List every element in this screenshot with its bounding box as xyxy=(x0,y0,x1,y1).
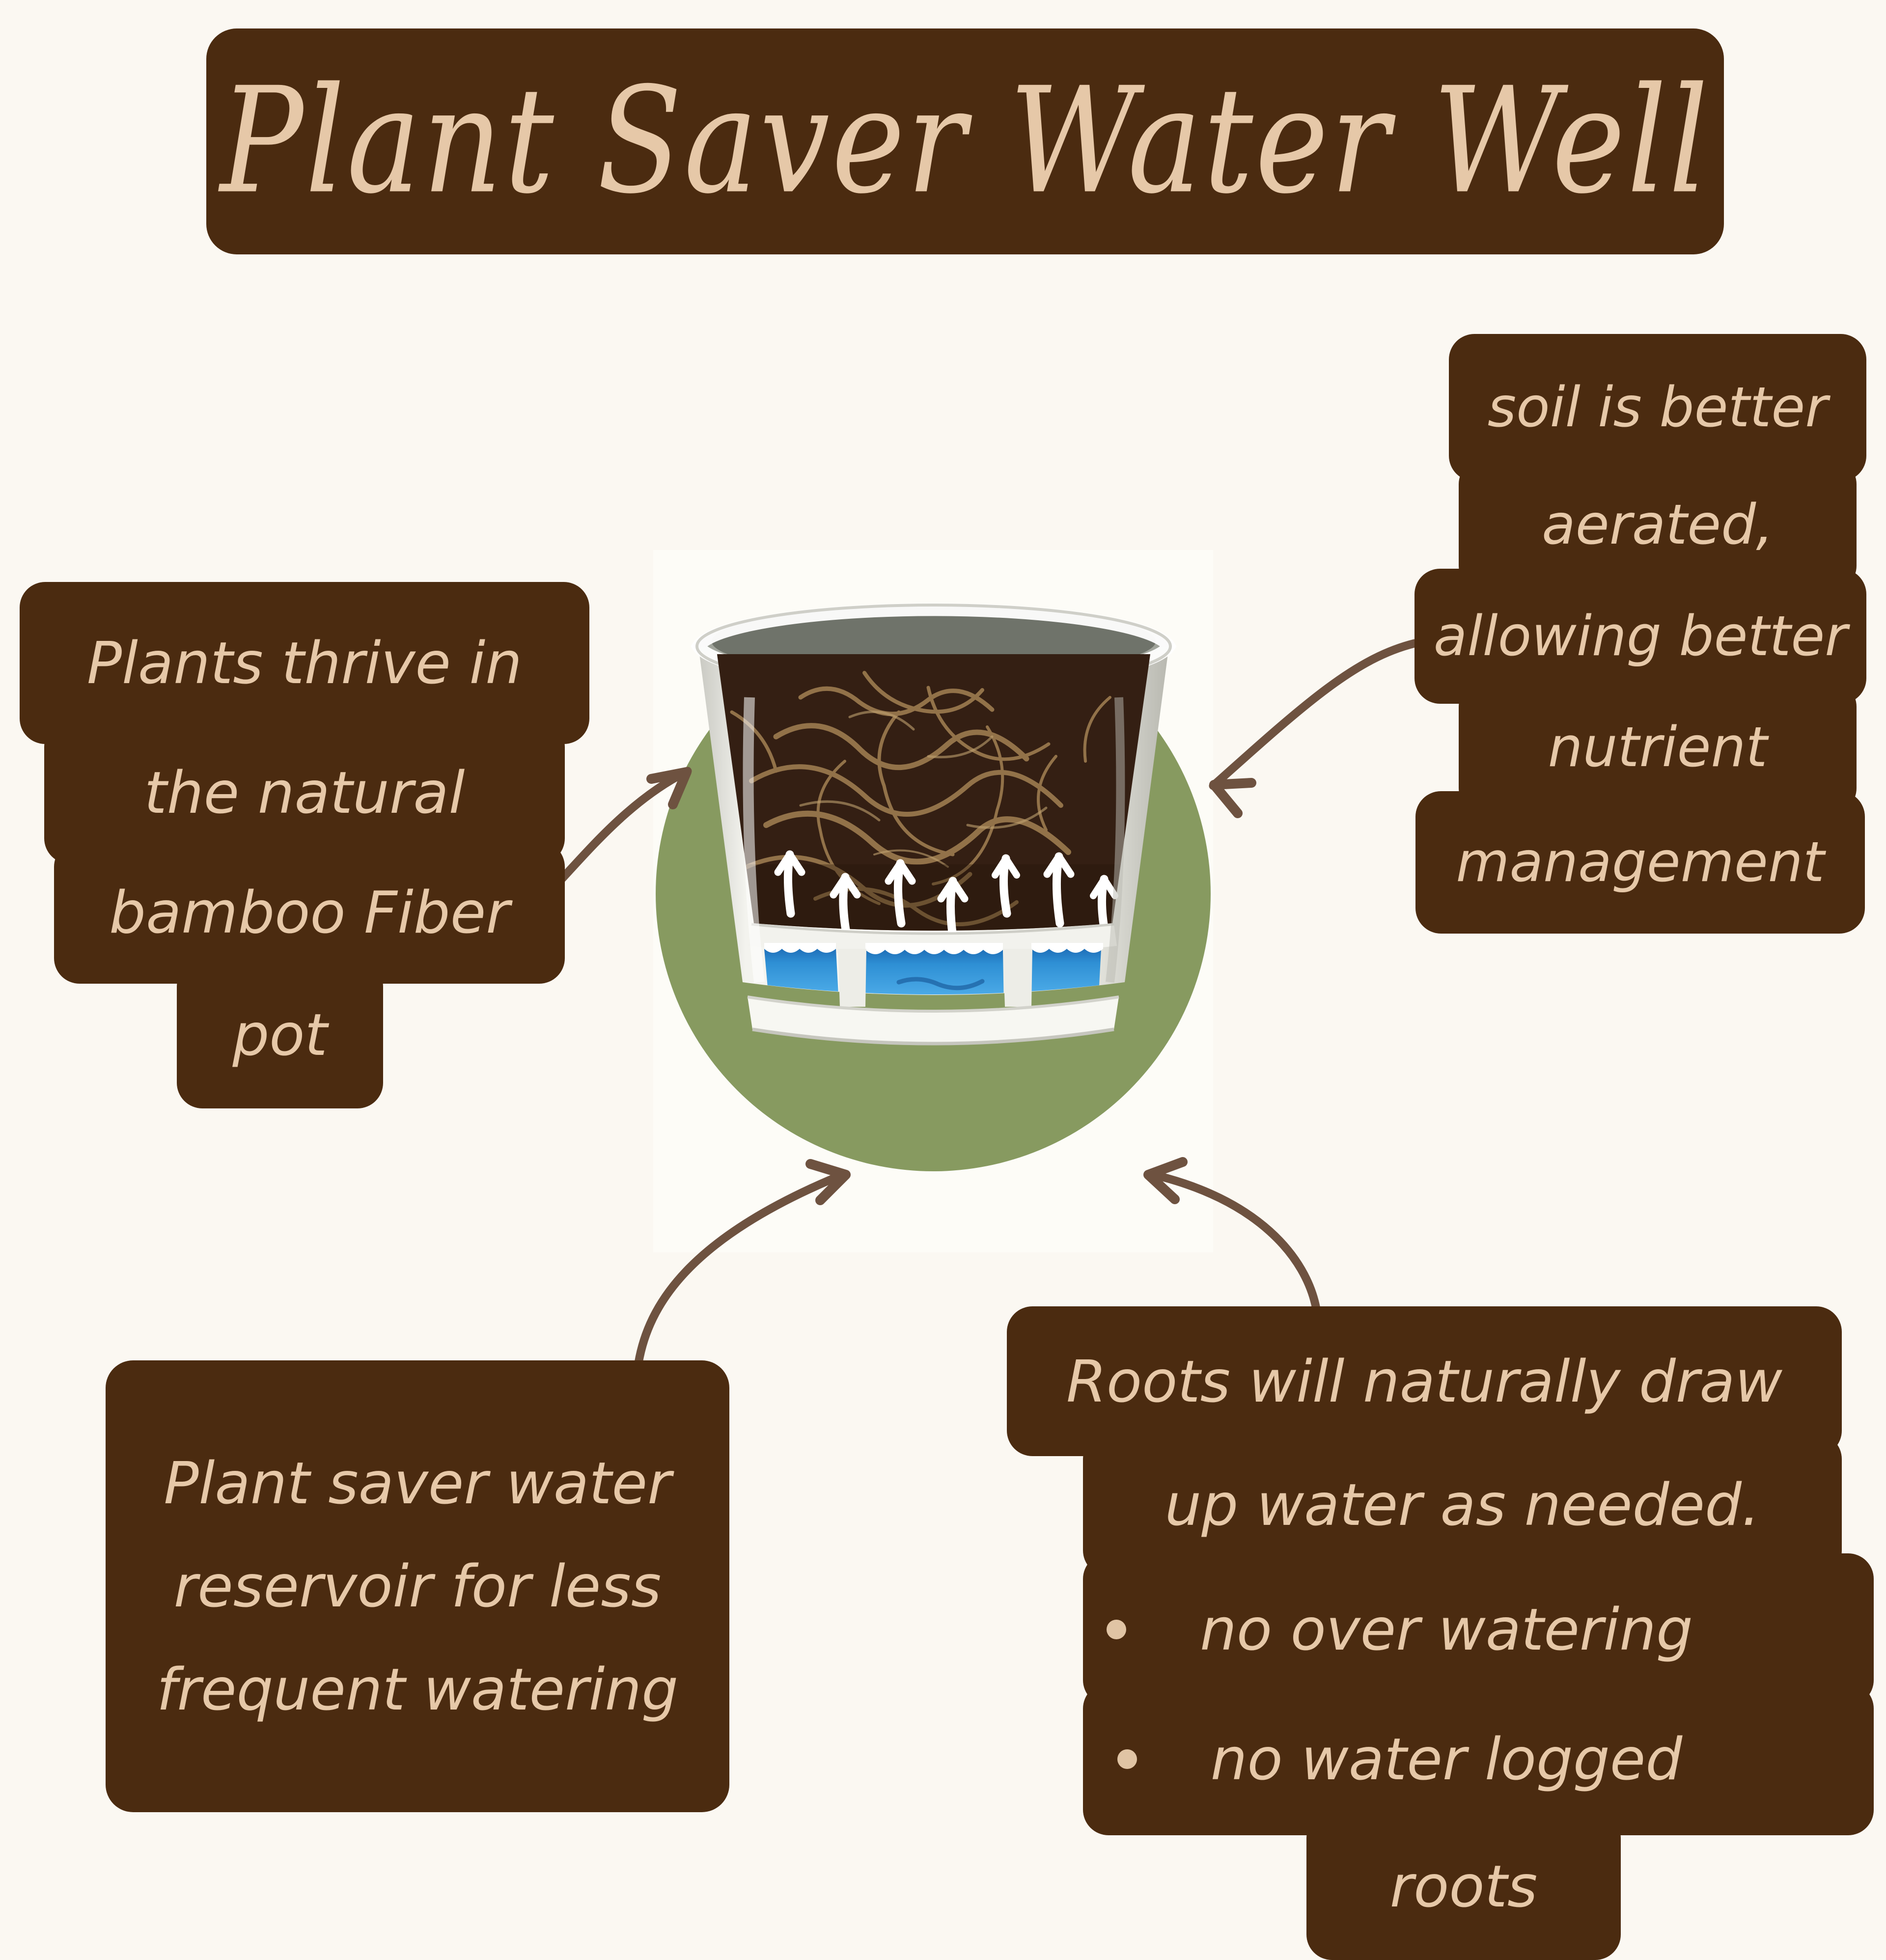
green-circle-backdrop xyxy=(656,616,1211,1171)
callout-bottomleft-line-3: frequent watering xyxy=(157,1660,678,1718)
bullet-item-1: no over watering xyxy=(1264,1601,1693,1658)
callout-topright-row-5: management xyxy=(1415,791,1865,934)
page-title: Plant Saver Water Well xyxy=(220,68,1710,214)
product-figure xyxy=(653,550,1213,1252)
callout-left-line-1: Plants thrive in xyxy=(87,634,522,692)
callout-left-line-4: pot xyxy=(232,1006,327,1064)
callout-left-line-2: the natural xyxy=(144,764,465,822)
connector-top-right xyxy=(1213,643,1414,786)
callout-bottomleft-line-1: Plant saver water xyxy=(164,1454,671,1512)
callout-bottomright-line-1: Roots will naturally draw xyxy=(1066,1353,1782,1410)
callout-topright-line-2: aerated, xyxy=(1542,497,1774,552)
water-reservoir xyxy=(764,943,1103,1007)
arrowhead-top-right xyxy=(1214,783,1251,813)
callout-topright-line-3: allowing better xyxy=(1434,609,1848,664)
callout-bottomright-line-2: up water as needed. xyxy=(1165,1476,1760,1534)
callout-bottomright-bullet-1: no over watering xyxy=(1200,1601,1693,1658)
callout-topright-line-5: management xyxy=(1456,835,1824,890)
bullet-item-2: no water logged xyxy=(1275,1730,1682,1788)
title-banner: Plant Saver Water Well xyxy=(206,28,1724,254)
callout-topright-line-1: soil is better xyxy=(1488,380,1828,435)
callout-bottomleft-body: Plant saver water reservoir for less fre… xyxy=(106,1360,729,1812)
pot-cutaway-illustration xyxy=(653,550,1213,1252)
callout-left-row-4: pot xyxy=(177,961,383,1108)
callout-left-row-1: Plants thrive in xyxy=(20,582,589,744)
callout-bottomleft-line-2: reservoir for less xyxy=(174,1557,662,1615)
callout-water-reservoir[interactable]: Plant saver water reservoir for less fre… xyxy=(106,1360,729,1812)
callout-bottomright-bullet-2: no water logged xyxy=(1211,1730,1682,1788)
callout-topright-line-4: nutrient xyxy=(1548,720,1768,775)
callout-soil-aeration[interactable]: soil is better aerated, allowing better … xyxy=(1414,334,1866,934)
callout-bottomright-row-5: roots xyxy=(1306,1813,1621,1960)
callout-bamboo-fiber-pot[interactable]: Plants thrive in the natural bamboo Fibe… xyxy=(20,582,599,1108)
callout-roots-draw-water[interactable]: Roots will naturally draw up water as ne… xyxy=(1007,1306,1861,1960)
bullet-dot-icon xyxy=(1107,1620,1126,1639)
callout-left-line-3: bamboo Fiber xyxy=(109,883,510,941)
callout-bottomright-last-line: roots xyxy=(1390,1857,1538,1915)
water-uptake-arrows xyxy=(778,855,1115,943)
bullet-dot-icon xyxy=(1117,1749,1137,1769)
infographic-canvas: Plant Saver Water Well xyxy=(0,0,1886,1956)
